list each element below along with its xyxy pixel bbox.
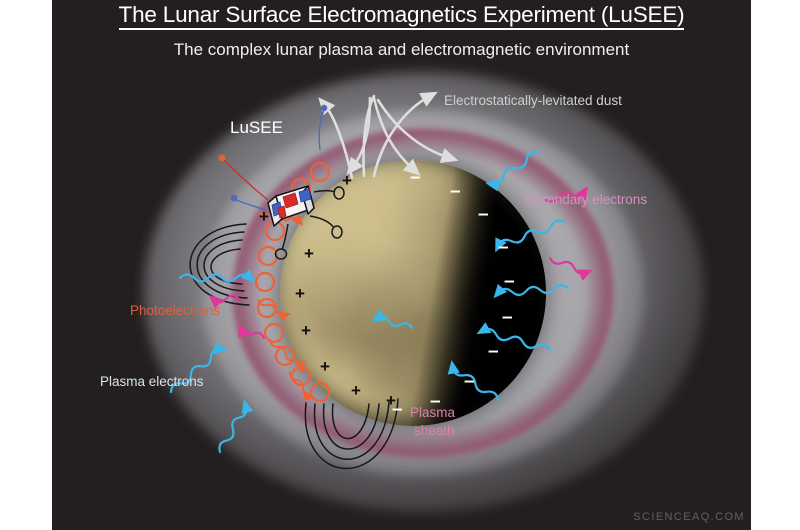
charge-minus: – — [410, 168, 421, 187]
label-plasma-electrons: Plasma electrons — [100, 374, 204, 389]
watermark: SCIENCEAQ.COM — [633, 511, 745, 523]
charge-plus: + — [301, 322, 311, 339]
figure-canvas: The Lunar Surface Electromagnetics Exper… — [0, 0, 800, 530]
charge-minus: – — [502, 308, 513, 327]
charge-minus: – — [392, 400, 403, 419]
label-plasma-sheath-line2: sheath — [414, 423, 455, 438]
charge-minus: – — [498, 238, 509, 257]
charge-plus: + — [259, 208, 269, 225]
figure-panel: The Lunar Surface Electromagnetics Exper… — [52, 0, 751, 530]
charge-minus: – — [450, 182, 461, 201]
diagram-overlay — [52, 0, 751, 530]
charge-plus: + — [342, 172, 352, 189]
charge-plus: + — [320, 358, 330, 375]
label-photoelectrons: Photoelectrons — [130, 303, 220, 318]
charge-plus: + — [295, 285, 305, 302]
magnetic-field-lines-left — [190, 224, 249, 305]
charge-minus: – — [464, 372, 475, 391]
label-levitated-dust: Electrostatically-levitated dust — [444, 93, 622, 108]
charge-minus: – — [478, 205, 489, 224]
charge-plus: + — [304, 245, 314, 262]
label-lusee: LuSEE — [230, 118, 283, 138]
label-secondary-electrons: Secondary electrons — [524, 192, 647, 207]
charge-plus: + — [351, 382, 361, 399]
magnetic-field-lines-bottom — [305, 399, 398, 469]
label-plasma-sheath-line1: Plasma — [410, 405, 455, 420]
charge-minus: – — [488, 342, 499, 361]
charge-minus: – — [504, 272, 515, 291]
levitated-dust-arrows — [324, 96, 450, 178]
